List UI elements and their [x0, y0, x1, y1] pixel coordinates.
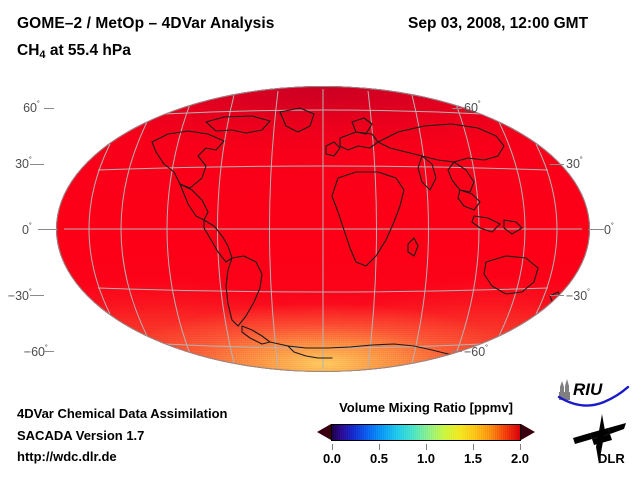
lat-tick-left-minus30 [30, 295, 44, 296]
lat-tick-left-0 [38, 229, 58, 230]
map-figure [56, 86, 590, 372]
lat-label-left-0: 0˚ [0, 222, 32, 237]
colorbar-tickmarks [312, 444, 540, 450]
colorbar-gradient [331, 424, 521, 441]
footer-line-project: 4DVar Chemical Data Assimilation [17, 403, 228, 425]
colorbar-ticklabel-0: 0.0 [323, 451, 341, 466]
map-globe [56, 86, 590, 372]
colorbar: Volume Mixing Ratio [ppmv] 0.0 0.5 1.0 1… [312, 400, 540, 468]
lat-label-right-0: 0˚ [604, 222, 614, 237]
colorbar-tick-2 [426, 444, 427, 450]
colorbar-extend-max-arrow [521, 424, 535, 440]
colorbar-ticklabel-1: 0.5 [370, 451, 388, 466]
colorbar-tick-0 [332, 444, 333, 450]
colorbar-ticklabels: 0.0 0.5 1.0 1.5 2.0 [312, 451, 540, 468]
lat-tick-right-minus30 [550, 295, 564, 296]
colorbar-ticklabel-3: 1.5 [464, 451, 482, 466]
riu-wordmark: RIU [573, 380, 603, 399]
dlr-logo: DLR [568, 412, 634, 466]
colorbar-dither-texture [332, 425, 520, 440]
analysis-timestamp: Sep 03, 2008, 12:00 GMT [408, 15, 588, 33]
map-data-field [56, 86, 590, 372]
colorbar-ticklabel-4: 2.0 [511, 451, 529, 466]
page-title: GOME–2 / MetOp – 4DVar Analysis [17, 15, 275, 33]
colorbar-ticklabel-2: 1.0 [417, 451, 435, 466]
lat-label-left-30: 30˚ [0, 156, 32, 171]
lat-label-right-30: 30˚ [566, 156, 583, 171]
lat-label-left-60: 60˚ [0, 100, 40, 115]
colorbar-title: Volume Mixing Ratio [ppmv] [312, 400, 540, 415]
footer-info: 4DVar Chemical Data Assimilation SACADA … [17, 403, 228, 468]
colorbar-tick-1 [379, 444, 380, 450]
footer-line-url: http://wdc.dlr.de [17, 446, 228, 468]
page-subtitle: CH4 at 55.4 hPa [17, 42, 131, 61]
colorbar-tick-3 [473, 444, 474, 450]
pressure-level-label: at 55.4 hPa [46, 42, 131, 59]
species-label: CH [17, 42, 39, 59]
lat-tick-right-60 [452, 108, 462, 109]
colorbar-tick-4 [520, 444, 521, 450]
lat-tick-left-60 [44, 108, 54, 109]
lat-tick-left-30 [30, 164, 44, 165]
lat-tick-right-minus60 [452, 351, 462, 352]
lat-label-right-60: 60˚ [464, 100, 481, 115]
colorbar-gradient-wrap [312, 422, 540, 444]
lat-tick-right-30 [550, 164, 564, 165]
lat-tick-left-minus60 [44, 351, 54, 352]
lat-label-right-minus60: −60˚ [464, 344, 488, 359]
riu-logo: RIU [556, 378, 634, 408]
lat-label-right-minus30: −30˚ [566, 288, 590, 303]
colorbar-extend-min-arrow [317, 424, 331, 440]
footer-line-version: SACADA Version 1.7 [17, 425, 228, 447]
lat-label-left-minus30: −30˚ [0, 288, 32, 303]
lat-label-left-minus60: −60˚ [0, 344, 48, 359]
dlr-wordmark: DLR [598, 451, 625, 466]
lat-tick-right-0 [588, 229, 604, 230]
